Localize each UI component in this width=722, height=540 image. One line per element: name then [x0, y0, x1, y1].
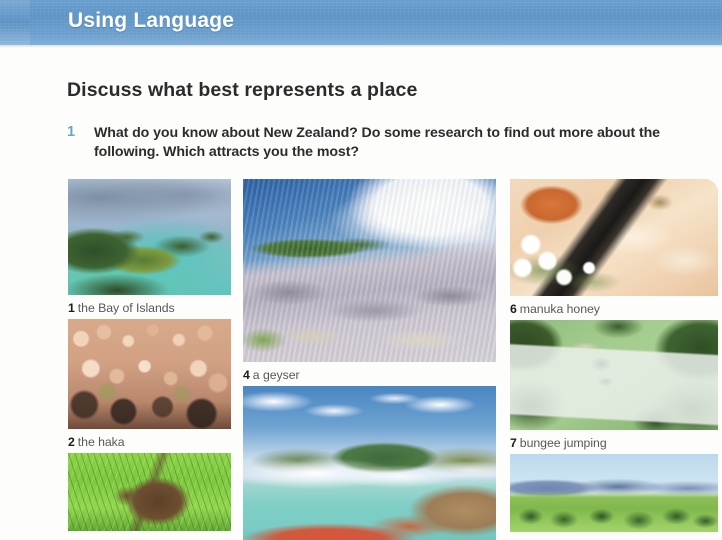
task-number: 1 — [67, 124, 75, 140]
caption-label: manuka honey — [520, 302, 600, 316]
figure-manuka-honey: 6manuka honey — [510, 179, 718, 316]
manuka-flowers-layer — [510, 179, 718, 296]
caption-number: 1 — [68, 301, 78, 315]
photo-bay-of-islands — [68, 179, 231, 295]
photo-haka — [68, 319, 231, 429]
photo-manuka-honey — [510, 179, 718, 296]
caption-number: 4 — [243, 368, 253, 382]
caption-geyser: 4a geyser — [243, 362, 496, 382]
photo-bungee-jumping — [510, 320, 718, 430]
figure-bay-of-islands: 1the Bay of Islands — [68, 179, 231, 315]
photo-thermal-lake — [243, 386, 496, 540]
header-underline — [0, 45, 722, 48]
caption-bay-of-islands: 1the Bay of Islands — [68, 295, 231, 315]
task-instruction: What do you know about New Zealand? Do s… — [94, 124, 677, 162]
photo-geyser — [243, 179, 496, 362]
figure-haka: 2the haka — [68, 319, 231, 449]
caption-number: 7 — [510, 436, 520, 450]
kiwi-bird-layer — [68, 453, 231, 531]
caption-label: the haka — [78, 435, 125, 449]
caption-haka: 2the haka — [68, 429, 231, 449]
caption-number: 6 — [510, 302, 520, 316]
caption-bungee-jumping: 7bungee jumping — [510, 430, 718, 450]
caption-number: 2 — [68, 435, 78, 449]
caption-manuka-honey: 6manuka honey — [510, 296, 718, 316]
figure-thermal-lake — [243, 386, 496, 540]
header-left-strip — [0, 0, 30, 45]
bungee-jumper-layer — [510, 320, 718, 430]
textbook-page: Using Language Discuss what best represe… — [0, 0, 722, 540]
caption-label: a geyser — [253, 368, 300, 382]
bay-islands-layer — [68, 179, 231, 295]
caption-label: the Bay of Islands — [78, 301, 175, 315]
image-column-middle: 4a geyser — [243, 179, 496, 540]
page-title: Using Language — [68, 9, 234, 33]
caption-label: bungee jumping — [520, 436, 607, 450]
haka-crowd-layer — [68, 319, 231, 429]
hills-trees-layer — [510, 454, 718, 532]
photo-rolling-hills — [510, 454, 718, 532]
photo-kiwi — [68, 453, 231, 531]
image-column-left: 1the Bay of Islands 2the haka — [68, 179, 231, 535]
figure-kiwi — [68, 453, 231, 531]
lake-steam-layer — [243, 386, 496, 540]
image-column-right: 6manuka honey 7bungee jumping — [510, 179, 718, 536]
figure-bungee-jumping: 7bungee jumping — [510, 320, 718, 450]
figure-geyser: 4a geyser — [243, 179, 496, 382]
geyser-rock-texture-layer — [243, 179, 496, 362]
section-heading: Discuss what best represents a place — [67, 79, 417, 102]
figure-rolling-hills — [510, 454, 718, 532]
